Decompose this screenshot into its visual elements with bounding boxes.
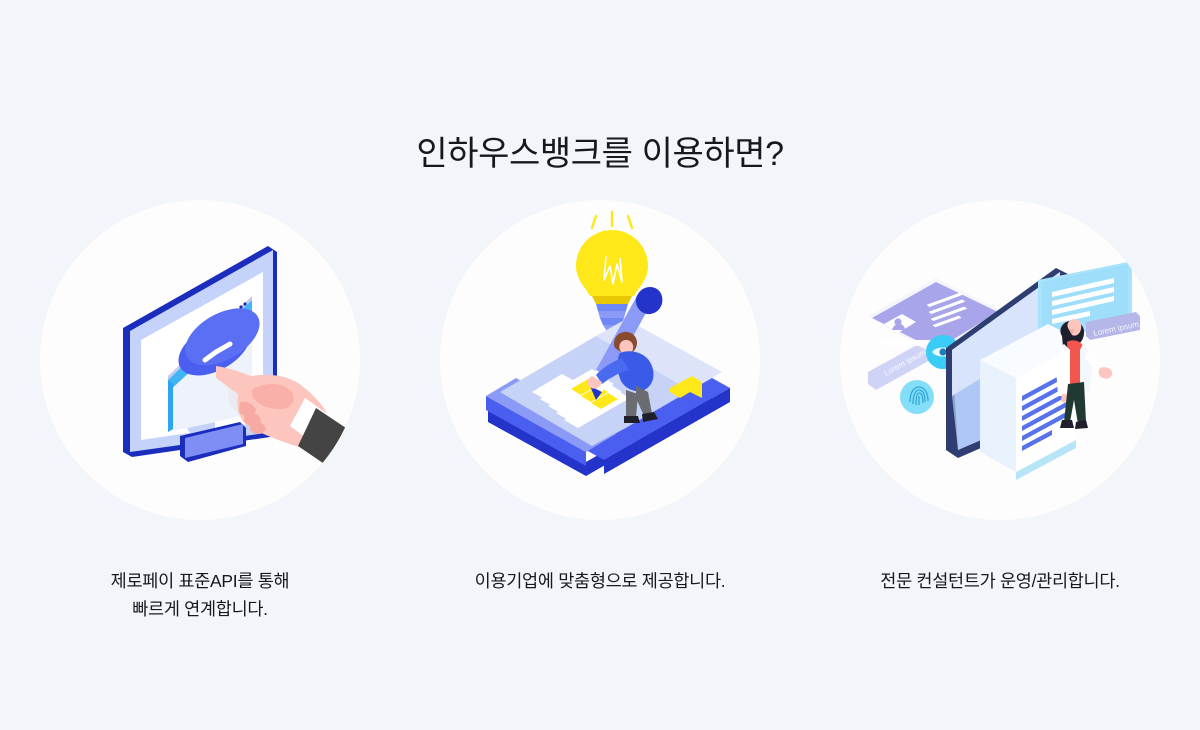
lightbulb-icon xyxy=(576,230,648,296)
benefit-card-custom-service: 이용기업에 맞춤형으로 제공합니다. xyxy=(400,200,800,595)
benefit-card-api-integration: 제로페이 표준API를 통해 빠르게 연계합니다. xyxy=(0,200,400,624)
lightbulb-rays-icon xyxy=(592,212,632,228)
benefit-card-caption: 제로페이 표준API를 통해 빠르게 연계합니다. xyxy=(111,567,290,624)
monitor-hand-click-illustration xyxy=(40,200,360,520)
illustration-circle-api-integration xyxy=(40,200,360,520)
consultant-hand xyxy=(1099,367,1113,378)
benefit-card-consultant-operation: Lorem ipsum xyxy=(800,200,1200,595)
promo-page: 인하우스뱅크를 이용하면? xyxy=(0,0,1200,730)
benefit-cards-row: 제로페이 표준API를 통해 빠르게 연계합니다. xyxy=(0,200,1200,624)
consultant-document-illustration: Lorem ipsum xyxy=(840,200,1160,520)
book-pen-lightbulb-illustration xyxy=(440,200,760,520)
fingerprint-icon xyxy=(900,380,934,414)
illustration-circle-custom-service xyxy=(440,200,760,520)
benefit-card-caption: 이용기업에 맞춤형으로 제공합니다. xyxy=(475,567,726,595)
illustration-circle-consultant-operation: Lorem ipsum xyxy=(840,200,1160,520)
page-title: 인하우스뱅크를 이용하면? xyxy=(0,133,1200,176)
benefit-card-caption: 전문 컨설턴트가 운영/관리합니다. xyxy=(880,567,1119,595)
